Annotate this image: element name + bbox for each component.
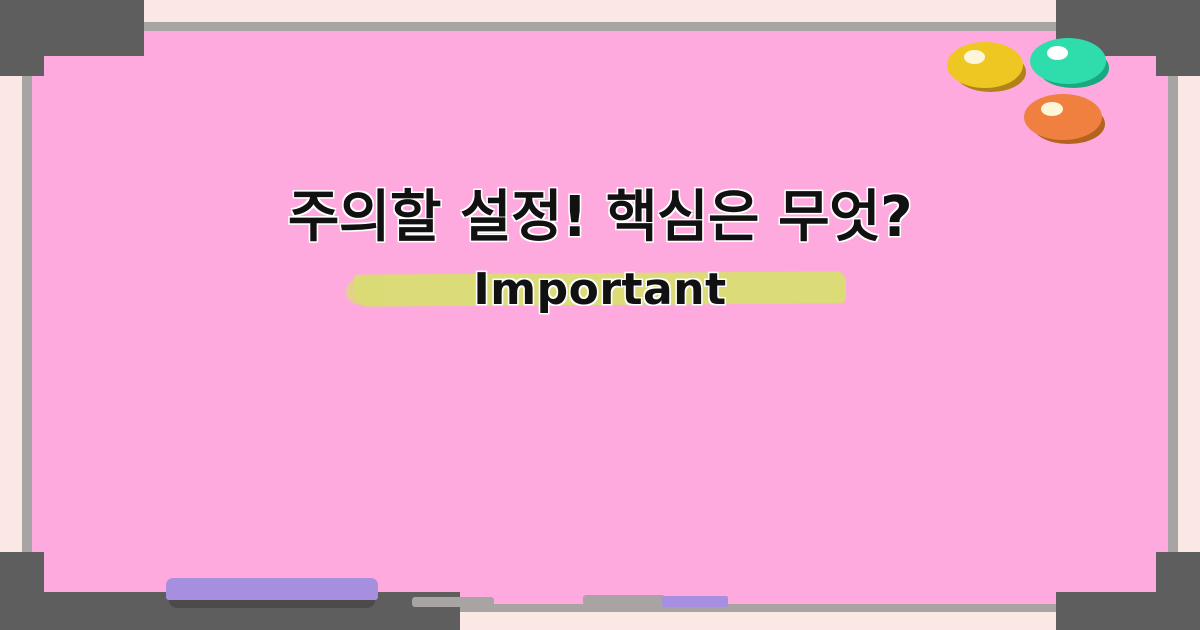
gray-marker-left-icon bbox=[412, 597, 494, 607]
bracket-arm-vertical bbox=[0, 552, 44, 630]
gray-marker-right-icon bbox=[583, 595, 665, 605]
orange-magnet-icon bbox=[1024, 94, 1102, 140]
headline-title: 주의할 설정! 핵심은 무엇? bbox=[0, 186, 1200, 251]
bracket-arm-vertical bbox=[0, 0, 44, 76]
magnet-gloss bbox=[964, 50, 985, 64]
eraser-top bbox=[166, 578, 378, 600]
subtitle-text: Important bbox=[0, 265, 1200, 312]
magnet-gloss bbox=[1047, 46, 1068, 60]
magnet-body bbox=[1024, 94, 1102, 140]
corner-bracket-top-left bbox=[0, 0, 144, 76]
bracket-arm-vertical bbox=[1156, 0, 1200, 76]
whiteboard-eraser-icon bbox=[166, 578, 378, 608]
corner-bracket-bottom-right bbox=[1056, 552, 1200, 630]
magnet-gloss bbox=[1041, 102, 1063, 116]
magnet-body bbox=[947, 42, 1023, 88]
magnet-body bbox=[1030, 38, 1106, 84]
purple-marker-icon bbox=[662, 596, 728, 607]
subtitle-wrap: Important bbox=[0, 265, 1200, 321]
teal-magnet-icon bbox=[1030, 38, 1106, 84]
whiteboard-card: 주의할 설정! 핵심은 무엇? Important bbox=[0, 0, 1200, 630]
text-block: 주의할 설정! 핵심은 무엇? Important bbox=[0, 186, 1200, 321]
yellow-magnet-icon bbox=[947, 42, 1023, 88]
bracket-arm-vertical bbox=[1156, 552, 1200, 630]
